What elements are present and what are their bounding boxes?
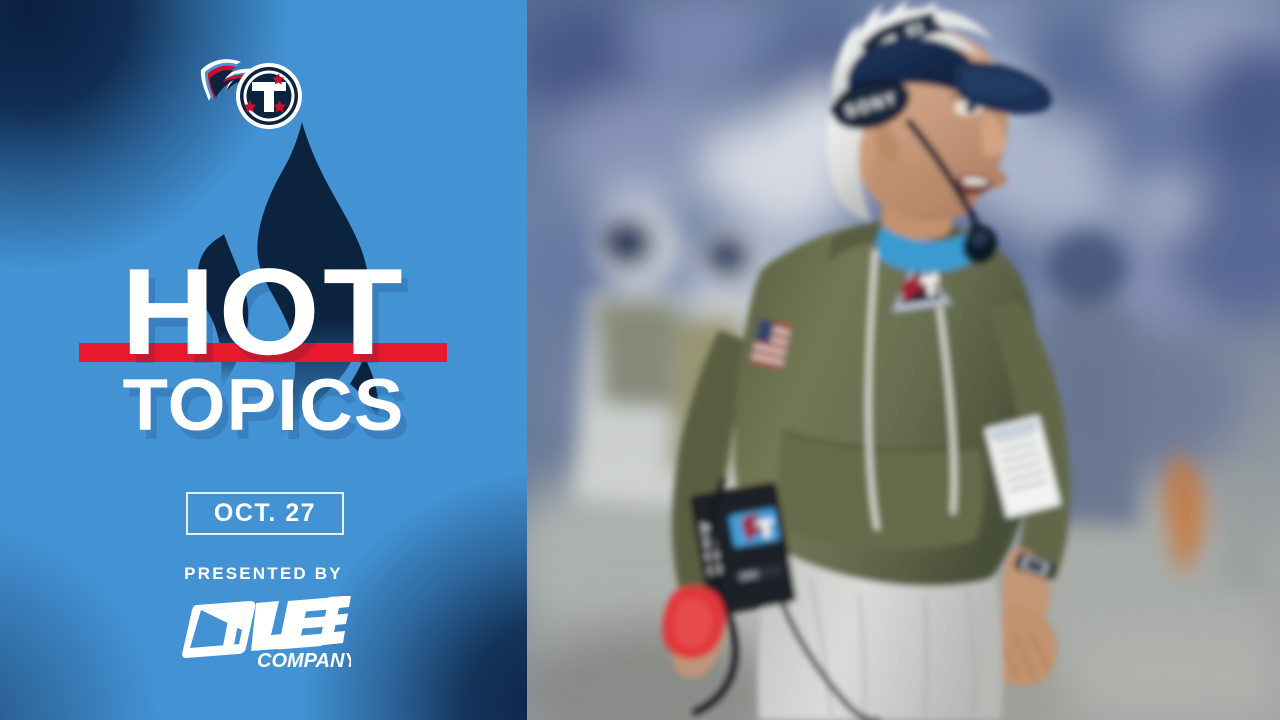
- date-badge: OCT. 27: [186, 492, 344, 535]
- title-line-hot: HOT: [0, 251, 527, 374]
- hot-topics-graphic: HOT TOPICS OCT. 27 PRESENTED BY: [0, 0, 1280, 720]
- presented-by-label: PRESENTED BY: [0, 564, 527, 584]
- left-title-panel: HOT TOPICS OCT. 27 PRESENTED BY: [0, 0, 527, 720]
- coach-sideline-photo: 61 SONY: [527, 0, 1280, 720]
- date-label: OCT. 27: [214, 499, 316, 528]
- lee-company-sponsor-logo: COMPANY: [181, 596, 351, 670]
- svg-text:COMPANY: COMPANY: [257, 650, 351, 670]
- photo-illustration: 61 SONY: [527, 0, 1280, 720]
- title-line-topics: TOPICS: [0, 369, 527, 442]
